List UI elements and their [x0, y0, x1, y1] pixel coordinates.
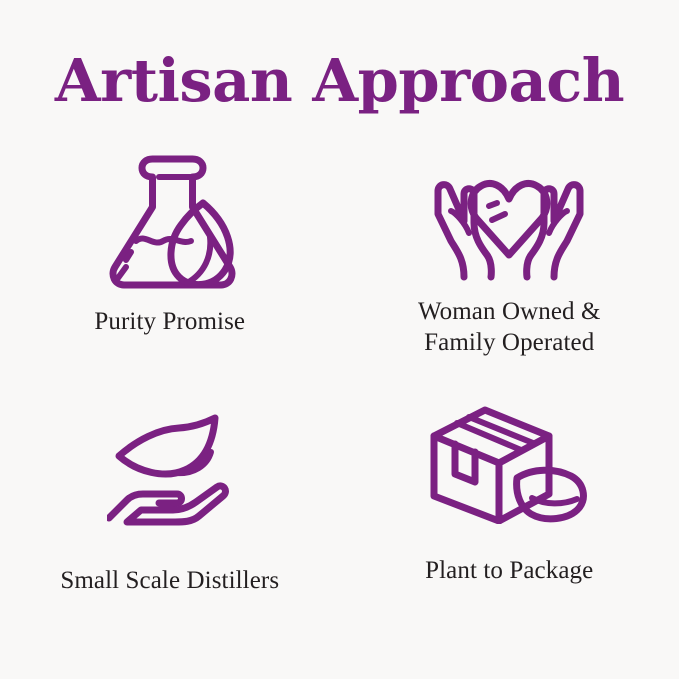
- feature-grid: Purity Promise: [0, 150, 679, 650]
- feature-label: Woman Owned & Family Operated: [418, 296, 601, 358]
- feature-item-plant-to-package: Plant to Package: [340, 395, 679, 640]
- feature-item-purity-promise: Purity Promise: [0, 150, 340, 395]
- feature-item-small-scale-distillers: Small Scale Distillers: [0, 395, 340, 640]
- artisan-approach-infographic: Artisan Approach: [0, 0, 679, 679]
- hands-heart-icon: [433, 150, 585, 290]
- feature-label: Purity Promise: [94, 306, 245, 337]
- box-leaf-icon: [429, 395, 589, 535]
- feature-label: Small Scale Distillers: [60, 565, 279, 596]
- hand-leaf-icon: [107, 395, 233, 545]
- page-title: Artisan Approach: [0, 44, 679, 118]
- feature-label: Plant to Package: [425, 555, 593, 586]
- feature-item-woman-owned: Woman Owned & Family Operated: [340, 150, 679, 395]
- flask-leaf-icon: [95, 150, 245, 300]
